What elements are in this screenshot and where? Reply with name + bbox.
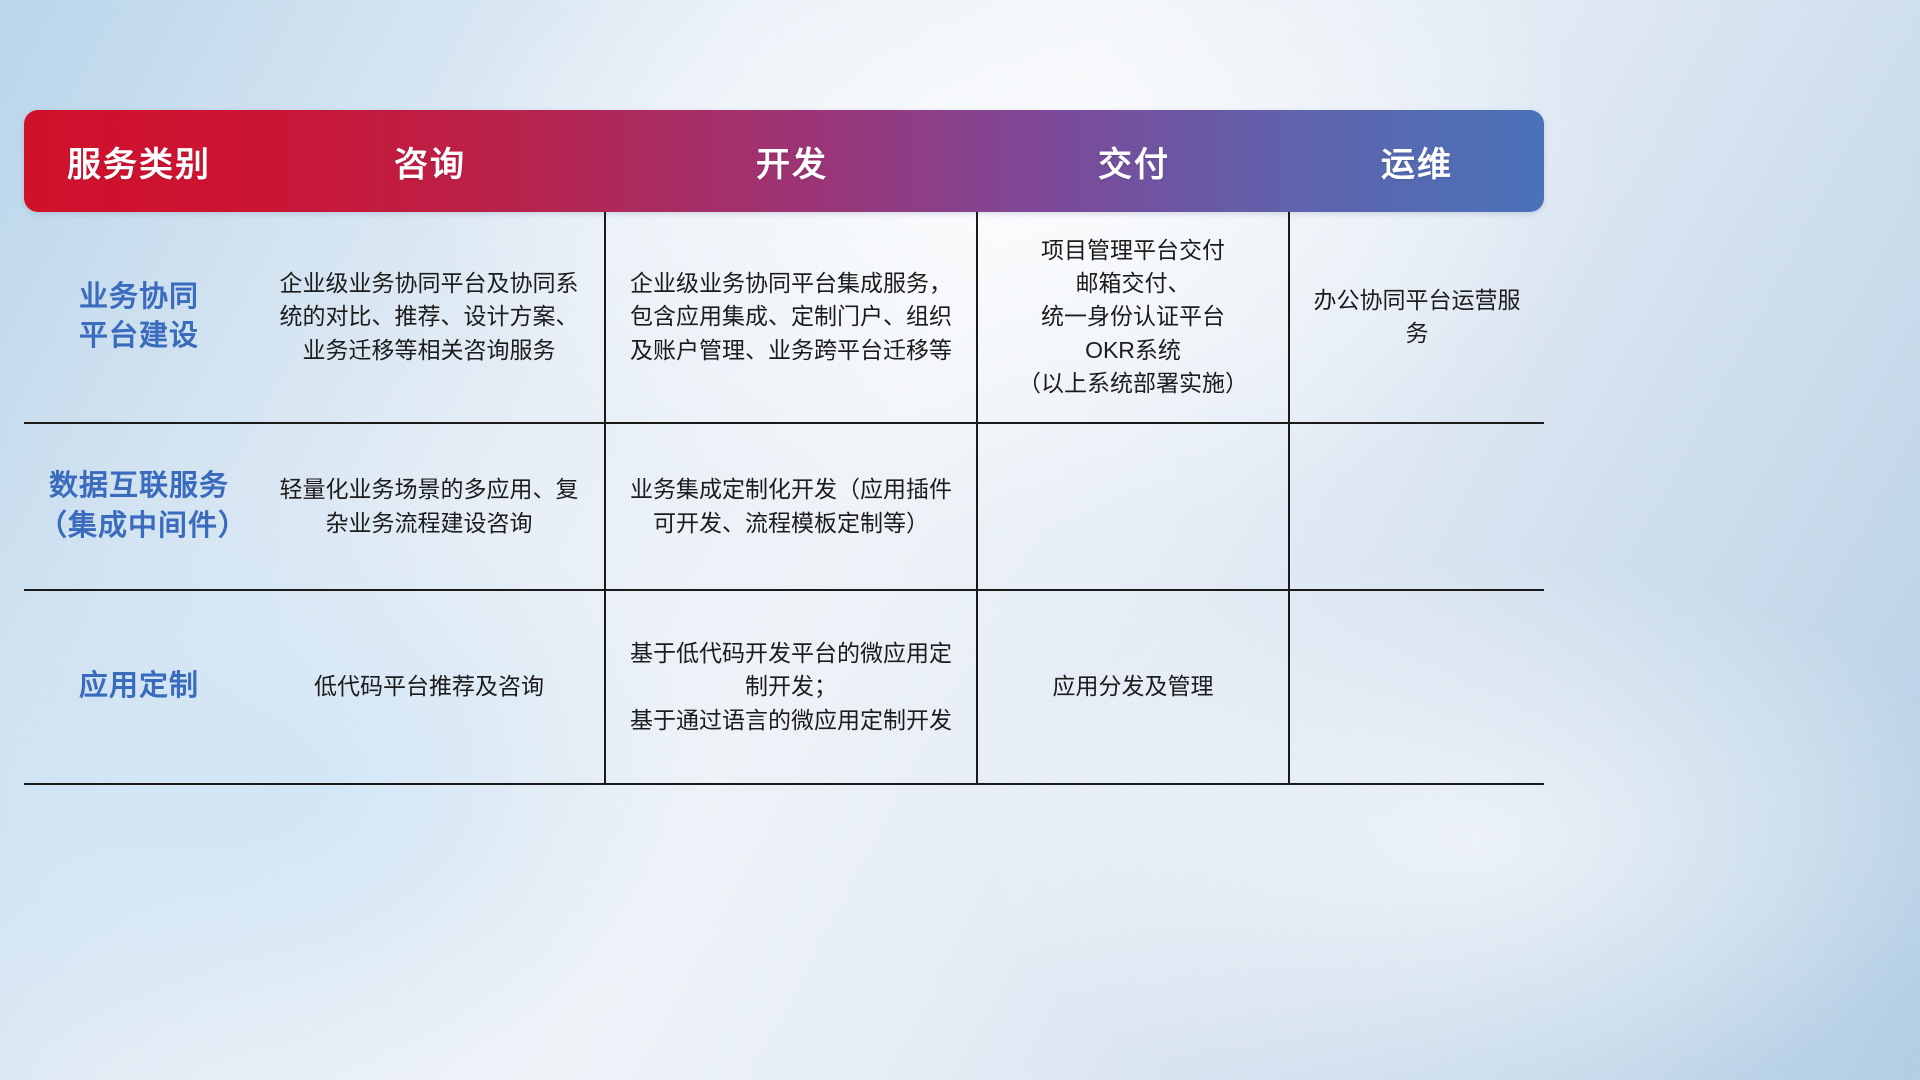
- cell-operations: 办公协同平台运营服务: [1290, 212, 1544, 422]
- column-header-operations: 运维: [1290, 110, 1544, 212]
- table-body: 业务协同 平台建设 企业级业务协同平台及协同系 统的对比、推荐、设计方案、 业务…: [24, 212, 1544, 785]
- cell-consulting: 低代码平台推荐及咨询: [254, 591, 606, 783]
- cell-consulting: 轻量化业务场景的多应用、复 杂业务流程建设咨询: [254, 424, 606, 589]
- cell-development: 基于低代码开发平台的微应用定 制开发； 基于通过语言的微应用定制开发: [606, 591, 978, 783]
- cell-delivery: 项目管理平台交付 邮箱交付、 统一身份认证平台 OKR系统 （以上系统部署实施）: [978, 212, 1290, 422]
- cell-delivery: 应用分发及管理: [978, 591, 1290, 783]
- cell-development: 企业级业务协同平台集成服务， 包含应用集成、定制门户、组织 及账户管理、业务跨平…: [606, 212, 978, 422]
- cell-operations: [1290, 591, 1544, 783]
- column-header-development: 开发: [606, 110, 978, 212]
- table-header-row: 服务类别 咨询 开发 交付 运维: [24, 110, 1544, 212]
- cell-delivery: [978, 424, 1290, 589]
- cell-operations: [1290, 424, 1544, 589]
- row-category-label: 数据互联服务 （集成中间件）: [24, 424, 254, 589]
- table-row: 业务协同 平台建设 企业级业务协同平台及协同系 统的对比、推荐、设计方案、 业务…: [24, 212, 1544, 424]
- column-header-consulting: 咨询: [254, 110, 606, 212]
- cell-consulting: 企业级业务协同平台及协同系 统的对比、推荐、设计方案、 业务迁移等相关咨询服务: [254, 212, 606, 422]
- row-category-label: 应用定制: [24, 591, 254, 783]
- column-header-delivery: 交付: [978, 110, 1290, 212]
- row-category-label: 业务协同 平台建设: [24, 212, 254, 422]
- column-header-service-category: 服务类别: [24, 110, 254, 212]
- cell-development: 业务集成定制化开发（应用插件 可开发、流程模板定制等）: [606, 424, 978, 589]
- service-matrix-table: 服务类别 咨询 开发 交付 运维 业务协同 平台建设 企业级业务协同平台及协同系…: [24, 110, 1544, 782]
- table-row: 应用定制 低代码平台推荐及咨询 基于低代码开发平台的微应用定 制开发； 基于通过…: [24, 591, 1544, 785]
- table-row: 数据互联服务 （集成中间件） 轻量化业务场景的多应用、复 杂业务流程建设咨询 业…: [24, 424, 1544, 591]
